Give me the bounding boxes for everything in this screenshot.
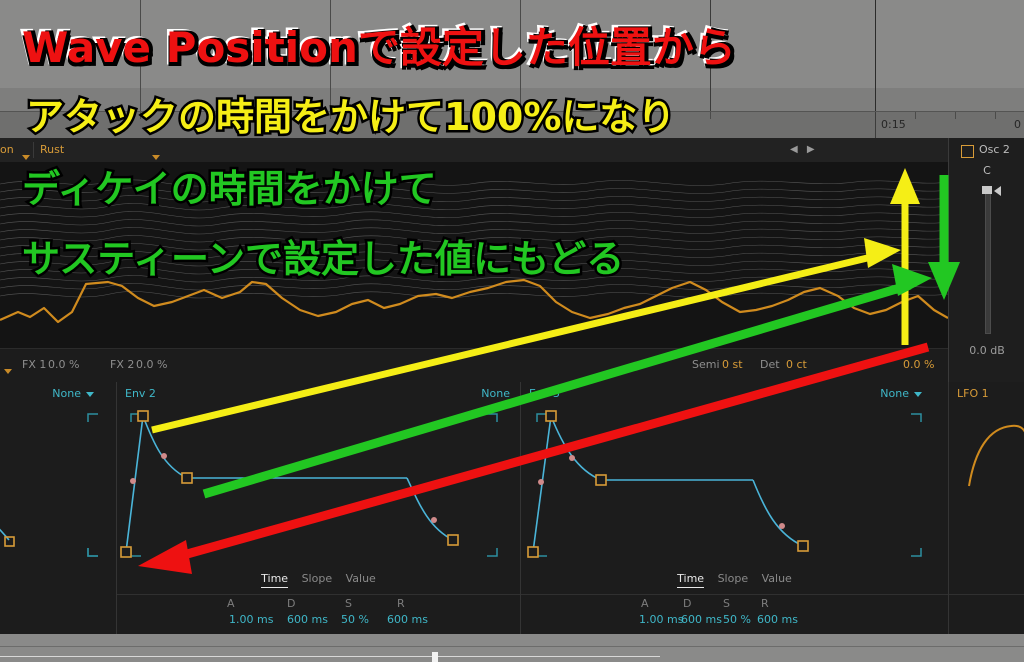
env2-title: Env 2	[125, 387, 156, 400]
env-panel-2[interactable]: Env 2 None	[116, 382, 520, 634]
env3-s-label: S	[723, 597, 730, 610]
fx2-label: FX 2	[110, 358, 134, 371]
env3-tab-slope[interactable]: Slope	[718, 572, 749, 585]
lfo-panel-1[interactable]: LFO 1	[948, 382, 1024, 634]
daw-track-lane[interactable]	[0, 66, 1024, 89]
daw-track-lane[interactable]	[0, 22, 1024, 45]
daw-ruler[interactable]: 0:15 0	[0, 111, 1024, 138]
semi-label: Semi	[692, 358, 720, 371]
screenshot-root: 0:15 0 on Rust ◀ ▶	[0, 0, 1024, 662]
wavetable-position-value[interactable]: 0.0 %	[903, 358, 934, 371]
env2-d-label: D	[287, 597, 295, 610]
env3-tabs[interactable]: Time Slope Value	[521, 572, 948, 588]
env2-tabs[interactable]: Time Slope Value	[117, 572, 520, 588]
env2-tab-time[interactable]: Time	[261, 572, 288, 588]
osc2-level-value: 0.0 dB	[949, 344, 1024, 357]
semi-value[interactable]: 0 st	[722, 358, 743, 371]
osc2-level-slider[interactable]	[985, 186, 991, 334]
env3-r-label: R	[761, 597, 769, 610]
env2-tab-slope[interactable]: Slope	[302, 572, 333, 585]
daw-playhead[interactable]	[875, 0, 876, 112]
daw-time-label: 0:15	[881, 118, 906, 131]
wavetable-name[interactable]: Rust	[40, 143, 64, 156]
env3-tab-time[interactable]: Time	[677, 572, 704, 588]
env3-tab-value[interactable]: Value	[762, 572, 792, 585]
daw-gridline	[140, 0, 141, 112]
fx1-label: FX 1	[22, 358, 46, 371]
daw-bottom-strip[interactable]	[0, 634, 1024, 662]
daw-gridline	[330, 0, 331, 112]
chevron-down-icon[interactable]	[4, 361, 12, 380]
daw-scroll-handle[interactable]	[432, 652, 438, 662]
env3-d-label: D	[683, 597, 691, 610]
lfo1-title: LFO 1	[957, 387, 989, 400]
env3-d-value[interactable]: 600 ms	[681, 613, 722, 626]
env3-routing[interactable]: None	[880, 387, 922, 400]
daw-track-lane[interactable]	[0, 0, 1024, 23]
env2-a-label: A	[227, 597, 235, 610]
env1-graph[interactable]	[0, 400, 116, 576]
det-label: Det	[760, 358, 780, 371]
daw-time-label-next: 0	[1014, 118, 1021, 131]
serum-plugin: on Rust ◀ ▶	[0, 138, 1024, 634]
daw-timeline[interactable]: 0:15 0	[0, 0, 1024, 138]
osc2-level-handle[interactable]	[982, 186, 992, 194]
daw-gridline	[520, 0, 521, 112]
env3-s-value[interactable]: 50 %	[723, 613, 751, 626]
level-pointer-icon	[994, 186, 1001, 196]
envelope-row: None Env 2 None	[0, 382, 1024, 634]
env2-tab-value[interactable]: Value	[346, 572, 376, 585]
oscillator-param-strip: FX 1 0.0 % FX 2 0.0 % Semi 0 st Det 0 ct…	[0, 348, 948, 384]
env2-graph[interactable]	[117, 400, 520, 576]
env3-graph[interactable]	[521, 400, 948, 576]
env3-r-value[interactable]: 600 ms	[757, 613, 798, 626]
det-value[interactable]: 0 ct	[786, 358, 807, 371]
wavetable-nav-arrows[interactable]: ◀ ▶	[790, 144, 818, 155]
fx2-value[interactable]: 0.0 %	[136, 358, 167, 371]
daw-track-lane[interactable]	[0, 88, 1024, 113]
wavetable-display[interactable]	[0, 162, 948, 348]
osc2-note[interactable]: C	[949, 164, 1024, 177]
env-panel-1[interactable]: None	[0, 382, 116, 634]
daw-track-lane[interactable]	[0, 44, 1024, 67]
osc2-enable-checkbox[interactable]	[961, 145, 974, 158]
env3-title: Env 3	[529, 387, 560, 400]
daw-gridline	[710, 0, 711, 112]
env2-routing[interactable]: None	[481, 387, 510, 400]
env-panel-3[interactable]: Env 3 None	[520, 382, 948, 634]
wavetable-3d-svg	[0, 162, 948, 348]
osc-menu-partial[interactable]: on	[0, 143, 14, 156]
env3-a-value[interactable]: 1.00 ms	[639, 613, 683, 626]
env2-s-label: S	[345, 597, 352, 610]
env2-d-value[interactable]: 600 ms	[287, 613, 328, 626]
fx1-value[interactable]: 0.0 %	[48, 358, 79, 371]
env2-r-label: R	[397, 597, 405, 610]
env2-s-value[interactable]: 50 %	[341, 613, 369, 626]
oscillator-header: on Rust ◀ ▶	[0, 138, 948, 163]
osc2-title: Osc 2	[979, 143, 1010, 156]
osc2-rail: Osc 2 C 0.0 dB	[948, 138, 1024, 382]
lfo1-graph[interactable]	[949, 400, 1024, 576]
env1-routing[interactable]: None	[52, 387, 94, 400]
env3-a-label: A	[641, 597, 649, 610]
env2-a-value[interactable]: 1.00 ms	[229, 613, 273, 626]
env2-r-value[interactable]: 600 ms	[387, 613, 428, 626]
